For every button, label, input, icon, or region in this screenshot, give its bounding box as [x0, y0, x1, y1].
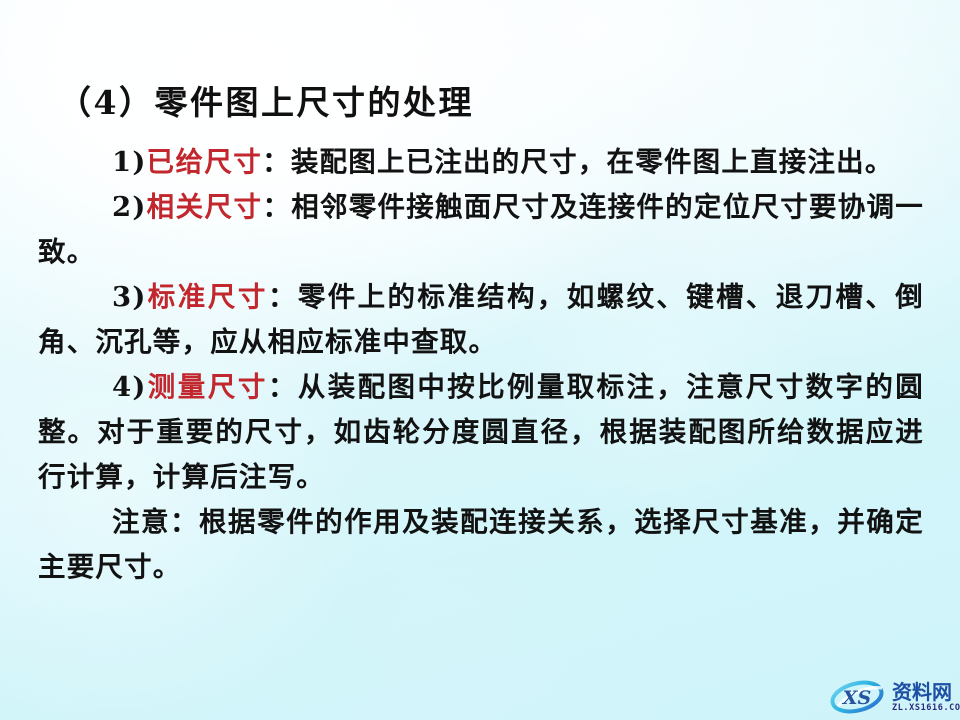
- list-marker: 1): [112, 146, 147, 178]
- keyword-highlight: 相关尺寸: [147, 191, 263, 223]
- list-item: 4)测量尺寸：从装配图中按比例量取标注，注意尺寸数字的圆整。对于重要的尺寸，如齿…: [38, 365, 924, 500]
- colon: ：: [268, 371, 298, 403]
- list-marker: 3): [112, 281, 147, 313]
- body-text-block: 1)已给尺寸：装配图上已注出的尺寸，在零件图上直接注出。 2)相关尺寸：相邻零件…: [38, 140, 924, 590]
- list-item: 2)相关尺寸：相邻零件接触面尺寸及连接件的定位尺寸要协调一致。: [38, 185, 924, 275]
- svg-text:XS: XS: [842, 687, 871, 709]
- xs-logo-icon: XS: [830, 680, 888, 714]
- watermark-site-name: 资料网: [892, 682, 960, 702]
- watermark: XS 资料网 ZL.XS1616.COM: [830, 677, 954, 717]
- keyword-highlight: 标准尺寸: [147, 281, 268, 313]
- colon: ：: [170, 506, 199, 538]
- slide-canvas: （4）零件图上尺寸的处理 1)已给尺寸：装配图上已注出的尺寸，在零件图上直接注出…: [0, 0, 960, 720]
- list-marker: 2): [112, 191, 147, 223]
- page-title: （4）零件图上尺寸的处理: [58, 76, 474, 124]
- watermark-url: ZL.XS1616.COM: [892, 704, 960, 713]
- keyword-highlight: 测量尺寸: [147, 371, 268, 403]
- colon: ：: [268, 281, 298, 313]
- list-item-text: 装配图上已注出的尺寸，在零件图上直接注出。: [291, 146, 894, 178]
- colon: ：: [262, 146, 291, 178]
- list-marker: 4): [112, 371, 147, 403]
- keyword-highlight: 已给尺寸: [147, 146, 263, 178]
- colon: ：: [262, 191, 291, 223]
- list-item: 3)标准尺寸：零件上的标准结构，如螺纹、键槽、退刀槽、倒角、沉孔等，应从相应标准…: [38, 275, 924, 365]
- slide-content: （4）零件图上尺寸的处理 1)已给尺寸：装配图上已注出的尺寸，在零件图上直接注出…: [0, 0, 960, 720]
- note-label: 注意: [112, 506, 170, 538]
- list-item: 1)已给尺寸：装配图上已注出的尺寸，在零件图上直接注出。: [38, 140, 924, 185]
- watermark-text-group: 资料网 ZL.XS1616.COM: [892, 682, 960, 713]
- note-paragraph: 注意：根据零件的作用及装配连接关系，选择尺寸基准，并确定主要尺寸。: [38, 500, 924, 590]
